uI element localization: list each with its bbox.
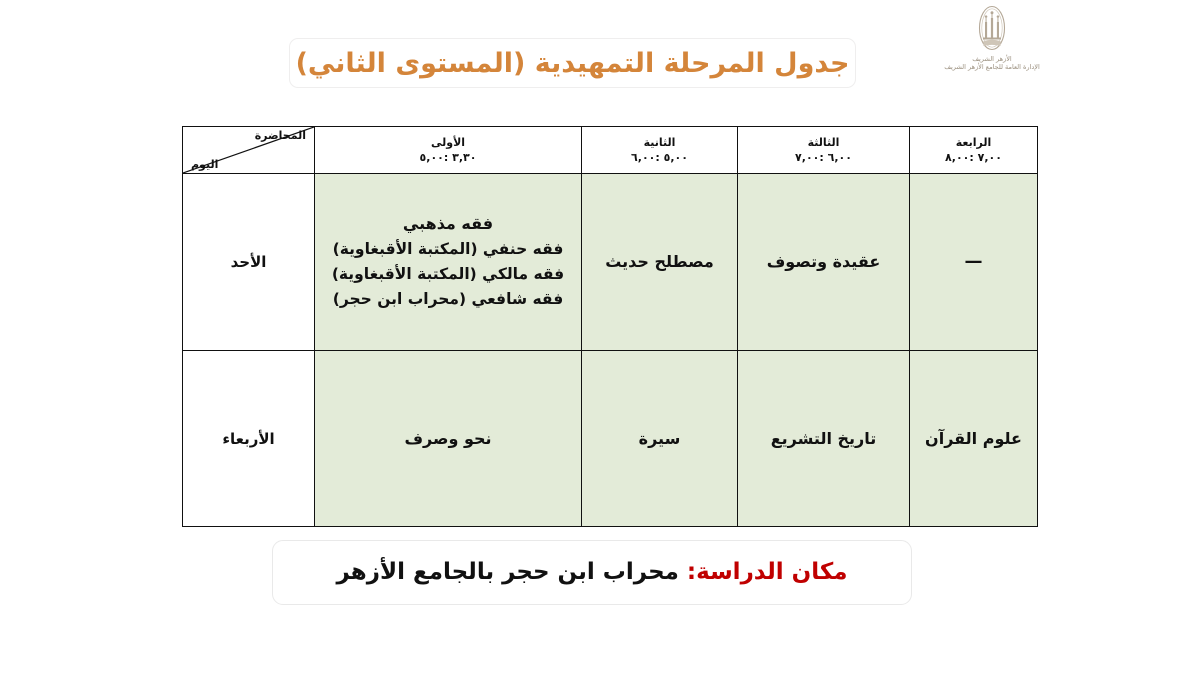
table-header: الرابعة ٧,٠٠ :٨,٠٠ الثالثة ٦,٠٠ :٧,٠٠ ال… (183, 127, 1038, 174)
corner-label-day: اليوم (191, 159, 218, 170)
table-body: — عقيدة وتصوف مصطلح حديث فقه مذهبي فقه ح… (183, 174, 1038, 527)
header-lecture-2-time: ٥,٠٠ :٦,٠٠ (582, 150, 737, 165)
logo-line-2: الإدارة العامة للجامع الأزهر الشريف (938, 63, 1046, 71)
header-lecture-4: الرابعة ٧,٠٠ :٨,٠٠ (910, 127, 1038, 174)
cell-sunday-lecture1: فقه مذهبي فقه حنفي (المكتبة الأقبغاوية) … (315, 174, 582, 351)
azhar-minaret-emblem-icon (973, 4, 1011, 52)
header-lecture-4-name: الرابعة (910, 135, 1037, 150)
fiqh-option-hanafi: فقه حنفي (المكتبة الأقبغاوية) (315, 237, 581, 262)
study-location-box: مكان الدراسة: محراب ابن حجر بالجامع الأز… (272, 540, 912, 605)
header-lecture-4-time: ٧,٠٠ :٨,٠٠ (910, 150, 1037, 165)
cell-day-sunday: الأحد (183, 174, 315, 351)
header-lecture-3-name: الثالثة (738, 135, 909, 150)
study-location-label: مكان الدراسة: (687, 559, 848, 585)
cell-sunday-lecture2: مصطلح حديث (582, 174, 738, 351)
page-title-box: جدول المرحلة التمهيدية (المستوى الثاني) (289, 38, 856, 88)
cell-sunday-lecture4: — (910, 174, 1038, 351)
cell-day-wednesday: الأربعاء (183, 351, 315, 527)
azhar-logo: الأزهر الشريف الإدارة العامة للجامع الأز… (938, 4, 1046, 71)
header-lecture-3: الثالثة ٦,٠٠ :٧,٠٠ (738, 127, 910, 174)
fiqh-option-shafii: فقه شافعي (محراب ابن حجر) (315, 287, 581, 312)
header-lecture-3-time: ٦,٠٠ :٧,٠٠ (738, 150, 909, 165)
header-lecture-2: الثانية ٥,٠٠ :٦,٠٠ (582, 127, 738, 174)
fiqh-option-maliki: فقه مالكي (المكتبة الأقبغاوية) (315, 262, 581, 287)
header-lecture-2-name: الثانية (582, 135, 737, 150)
header-corner-cell: المحاضرة اليوم (183, 127, 315, 174)
table-row: علوم القرآن تاريخ التشريع سيرة نحو وصرف … (183, 351, 1038, 527)
cell-sunday-lecture4-text: — (965, 251, 983, 272)
study-location-text: مكان الدراسة: محراب ابن حجر بالجامع الأز… (337, 561, 848, 584)
header-lecture-1-name: الأولى (315, 135, 581, 150)
study-location-value: محراب ابن حجر بالجامع الأزهر (337, 559, 687, 585)
cell-wednesday-lecture4: علوم القرآن (910, 351, 1038, 527)
header-row: الرابعة ٧,٠٠ :٨,٠٠ الثالثة ٦,٠٠ :٧,٠٠ ال… (183, 127, 1038, 174)
header-lecture-1: الأولى ٣,٣٠ :٥,٠٠ (315, 127, 582, 174)
corner-label-lecture: المحاضرة (255, 130, 306, 141)
page-title: جدول المرحلة التمهيدية (المستوى الثاني) (296, 50, 850, 77)
schedule-table: الرابعة ٧,٠٠ :٨,٠٠ الثالثة ٦,٠٠ :٧,٠٠ ال… (182, 126, 1038, 527)
header-lecture-1-time: ٣,٣٠ :٥,٠٠ (315, 150, 581, 165)
cell-wednesday-lecture1: نحو وصرف (315, 351, 582, 527)
cell-wednesday-lecture2: سيرة (582, 351, 738, 527)
logo-line-1: الأزهر الشريف (938, 55, 1046, 63)
table-row: — عقيدة وتصوف مصطلح حديث فقه مذهبي فقه ح… (183, 174, 1038, 351)
fiqh-group-title: فقه مذهبي (315, 212, 581, 236)
cell-wednesday-lecture3: تاريخ التشريع (738, 351, 910, 527)
cell-sunday-lecture3: عقيدة وتصوف (738, 174, 910, 351)
